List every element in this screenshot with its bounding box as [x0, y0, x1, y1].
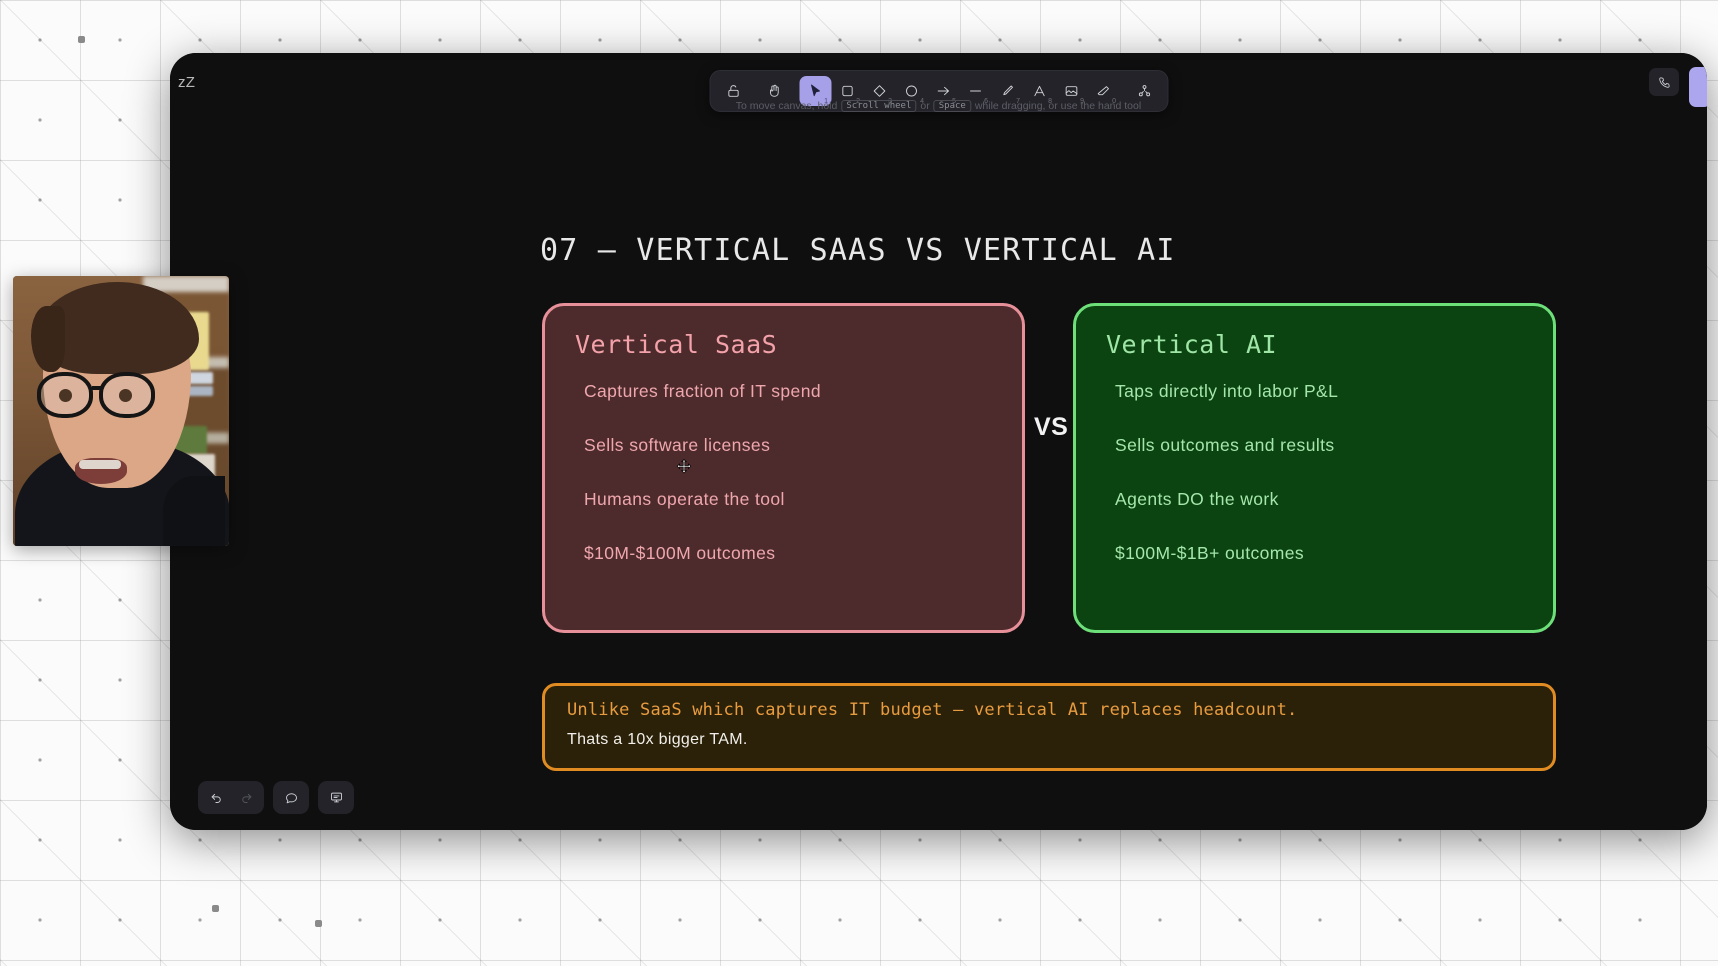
microphone: [163, 476, 225, 546]
grid-dot: [315, 920, 322, 927]
bottom-left-controls: [198, 781, 354, 814]
person-hair-side: [31, 306, 65, 372]
hint-suffix: while dragging, or use the hand tool: [975, 100, 1141, 112]
hint-prefix: To move canvas, hold: [736, 100, 838, 112]
card-vertical-saas[interactable]: Vertical SaaS Captures fraction of IT sp…: [542, 303, 1025, 633]
comment-group: [273, 781, 309, 814]
person-teeth: [79, 460, 121, 469]
card-bullet: Sells outcomes and results: [1115, 435, 1527, 456]
move-cursor-icon: [675, 458, 693, 476]
comment-icon[interactable]: [276, 784, 306, 811]
vs-label: VS: [1034, 413, 1068, 442]
side-panel-tab[interactable]: [1689, 67, 1707, 107]
glasses-bridge: [92, 386, 102, 390]
corner-label: zZ: [178, 74, 195, 91]
card-bullet: Sells software licenses: [584, 435, 996, 456]
feedback-icon[interactable]: [321, 784, 351, 811]
callout-box[interactable]: Unlike SaaS which captures IT budget — v…: [542, 683, 1556, 771]
callout-line-2: Thats a 10x bigger TAM.: [567, 731, 1531, 749]
webcam-overlay[interactable]: [13, 276, 229, 546]
undo-button[interactable]: [201, 784, 231, 811]
card-bullet: Captures fraction of IT spend: [584, 381, 996, 402]
hint-key-space: Space: [934, 100, 971, 112]
grid-dot: [78, 36, 85, 43]
feedback-group: [318, 781, 354, 814]
card-bullet: $100M-$1B+ outcomes: [1115, 543, 1527, 564]
undo-redo-group: [198, 781, 264, 814]
card-bullet: Taps directly into labor P&L: [1115, 381, 1527, 402]
card-title: Vertical AI: [1106, 330, 1527, 359]
redo-button[interactable]: [231, 784, 261, 811]
page-title: 07 — VERTICAL SAAS VS VERTICAL AI: [540, 233, 1176, 268]
eye-right: [119, 389, 132, 402]
whiteboard-window: 1 2 3 4 5 6 7 8: [170, 53, 1707, 830]
hint-or: or: [920, 100, 929, 112]
card-vertical-ai[interactable]: Vertical AI Taps directly into labor P&L…: [1073, 303, 1556, 633]
phone-icon[interactable]: [1649, 68, 1679, 96]
card-bullet: $10M-$100M outcomes: [584, 543, 996, 564]
hint-key-scroll-wheel: Scroll wheel: [841, 100, 916, 112]
card-bullet: Agents DO the work: [1115, 489, 1527, 510]
card-title: Vertical SaaS: [575, 330, 996, 359]
callout-line-1: Unlike SaaS which captures IT budget — v…: [567, 700, 1531, 720]
eye-left: [59, 389, 72, 402]
grid-dot: [212, 905, 219, 912]
canvas-move-hint: To move canvas, hold Scroll wheel or Spa…: [736, 100, 1141, 112]
card-bullet: Humans operate the tool: [584, 489, 996, 510]
